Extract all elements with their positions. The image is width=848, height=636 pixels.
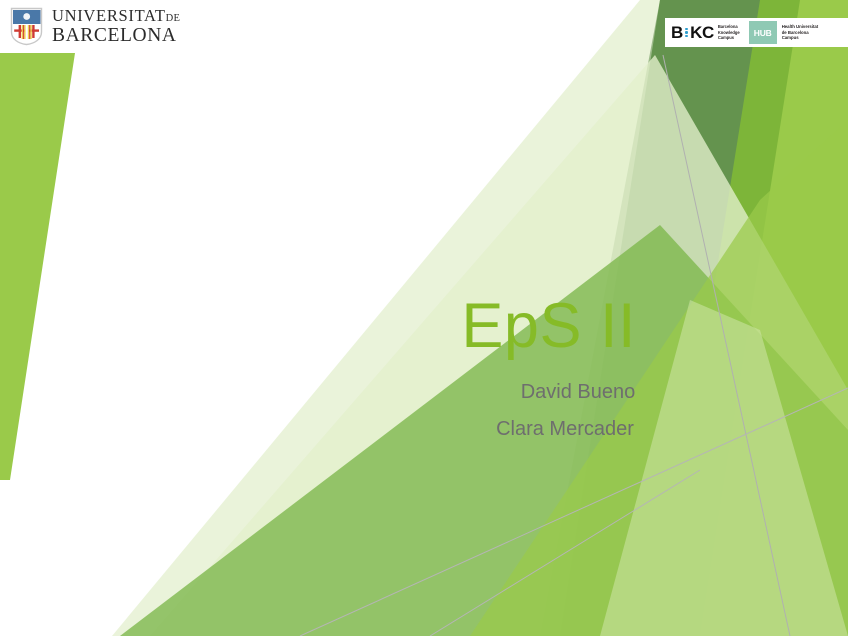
partner-logo-bar: B KC Barcelona Knowledge Campus HUB Heal… (665, 18, 848, 47)
hub-tagline: Health Universitat de Barcelona Campus (782, 24, 819, 41)
bkc-letter-b: B (671, 24, 683, 41)
hub-logo-mark: HUB (754, 28, 772, 38)
hub-logo-box: HUB (749, 21, 777, 44)
ub-crest-icon (10, 7, 43, 46)
left-green-wedge (0, 53, 75, 480)
bkc-letters-kc: KC (690, 24, 714, 41)
hub-tagline-line-3: Campus (782, 35, 819, 41)
slide-title: EpS II (180, 293, 636, 359)
slide-author-2: Clara Mercader (385, 418, 745, 441)
presentation-slide: UNIVERSITATDE BARCELONA B KC Barcelona K… (0, 0, 848, 636)
ub-wordmark-de: DE (166, 13, 181, 24)
hub-tagline-line-1: Health Universitat (782, 24, 819, 30)
ub-wordmark-universitat: UNIVERSITAT (52, 6, 166, 25)
bkc-tagline: Barcelona Knowledge Campus (718, 24, 740, 41)
slide-author-1: David Bueno (398, 381, 758, 404)
ub-logo-bar: UNIVERSITATDE BARCELONA (0, 0, 222, 53)
ub-wordmark-line-2: BARCELONA (52, 26, 180, 46)
bkc-tagline-line-1: Barcelona (718, 24, 740, 30)
bkc-tagline-line-3: Campus (718, 35, 740, 41)
bkc-logo-mark: B KC (671, 24, 714, 41)
ub-logo-wordmark: UNIVERSITATDE BARCELONA (52, 8, 180, 46)
ub-wordmark-line-1: UNIVERSITATDE (52, 8, 180, 25)
bkc-dots-icon (685, 28, 687, 38)
